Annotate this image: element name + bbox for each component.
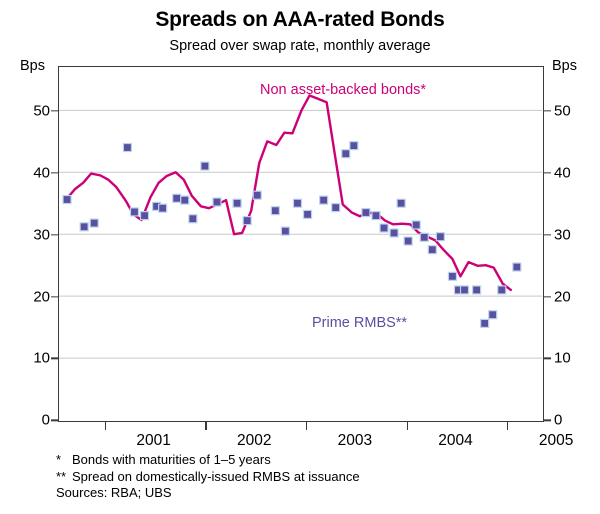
x-axis-tick-mark <box>105 422 106 430</box>
y-axis-tick-mark-right <box>544 420 551 421</box>
chart-container: Spreads on AAA-rated Bonds Spread over s… <box>0 0 600 514</box>
footnote-text-1: Bonds with maturities of 1–5 years <box>72 452 271 469</box>
y-axis-tick-label-left: 50 <box>10 102 50 119</box>
y-axis-tick-mark-right <box>544 234 551 235</box>
footnote-marker-2: ** <box>56 469 72 486</box>
x-axis-tick-mark <box>306 422 307 430</box>
y-axis-tick-label-left: 40 <box>10 164 50 181</box>
scatter-point <box>429 246 436 253</box>
scatter-point <box>449 273 456 280</box>
scatter-point <box>513 264 520 271</box>
y-axis-tick-mark-left <box>51 234 58 235</box>
scatter-point <box>159 205 166 212</box>
scatter-point <box>173 195 180 202</box>
scatter-point <box>202 163 209 170</box>
x-axis-tick-label: 2004 <box>421 432 491 450</box>
scatter-point <box>131 209 138 216</box>
y-axis-tick-label-right: 30 <box>554 226 594 243</box>
scatter-point <box>405 238 412 245</box>
series-label-non-asset-backed-bonds: Non asset-backed bonds* <box>260 82 426 98</box>
y-axis-tick-mark-left <box>51 296 58 297</box>
scatter-point <box>181 197 188 204</box>
scatter-point <box>124 144 131 151</box>
line-series-non-asset-backed-bonds <box>66 95 511 289</box>
y-axis-tick-label-right: 40 <box>554 164 594 181</box>
footnote-row-2: ** Spread on domestically-issued RMBS at… <box>56 469 576 486</box>
scatter-point <box>81 223 88 230</box>
scatter-point <box>294 200 301 207</box>
plot-area <box>58 66 544 422</box>
scatter-point <box>421 234 428 241</box>
scatter-point <box>320 197 327 204</box>
scatter-point <box>141 212 148 219</box>
scatter-point <box>498 287 505 294</box>
y-axis-tick-label-left: 10 <box>10 350 50 367</box>
scatter-point <box>342 150 349 157</box>
scatter-point <box>391 230 398 237</box>
chart-canvas <box>59 67 542 420</box>
scatter-point <box>350 142 357 149</box>
scatter-point <box>234 200 241 207</box>
scatter-point <box>398 200 405 207</box>
y-axis-tick-label-right: 20 <box>554 288 594 305</box>
scatter-point <box>189 215 196 222</box>
scatter-point <box>64 196 71 203</box>
y-axis-tick-mark-right <box>544 172 551 173</box>
scatter-point <box>332 204 339 211</box>
x-axis-tick-label: 2001 <box>119 432 189 450</box>
y-axis-unit-right: Bps <box>552 58 577 74</box>
x-axis-tick-mark <box>205 422 206 430</box>
chart-subtitle: Spread over swap rate, monthly average <box>0 38 600 54</box>
scatter-point <box>91 220 98 227</box>
x-axis-tick-mark <box>507 422 508 430</box>
y-axis-tick-mark-left <box>51 110 58 111</box>
y-axis-tick-label-right: 0 <box>554 412 594 429</box>
x-axis-tick-label: 2002 <box>219 432 289 450</box>
y-axis-tick-label-left: 20 <box>10 288 50 305</box>
scatter-point <box>363 209 370 216</box>
y-axis-tick-mark-right <box>544 296 551 297</box>
page-title: Spreads on AAA-rated Bonds <box>0 8 600 32</box>
scatter-point <box>481 320 488 327</box>
x-axis-tick-mark <box>407 422 408 430</box>
y-axis-tick-label-left: 30 <box>10 226 50 243</box>
y-axis-tick-mark-left <box>51 358 58 359</box>
y-axis-tick-mark-left <box>51 420 58 421</box>
y-axis-tick-mark-right <box>544 358 551 359</box>
footnote-marker-1: * <box>56 452 72 469</box>
y-axis-unit-left: Bps <box>20 58 45 74</box>
scatter-point <box>254 192 261 199</box>
scatter-point <box>437 233 444 240</box>
scatter-point <box>244 217 251 224</box>
footnote-text-2: Spread on domestically-issued RMBS at is… <box>72 469 360 486</box>
scatter-point <box>461 287 468 294</box>
scatter-point <box>373 212 380 219</box>
scatter-point <box>413 222 420 229</box>
series-label-prime-rmbs: Prime RMBS** <box>312 315 407 331</box>
footnotes: * Bonds with maturities of 1–5 years ** … <box>56 452 576 502</box>
sources-text: Sources: RBA; UBS <box>56 485 576 502</box>
footnote-row-1: * Bonds with maturities of 1–5 years <box>56 452 576 469</box>
scatter-point <box>473 287 480 294</box>
y-axis-tick-mark-right <box>544 110 551 111</box>
y-axis-tick-label-right: 10 <box>554 350 594 367</box>
scatter-point <box>489 311 496 318</box>
y-axis-tick-label-left: 0 <box>10 412 50 429</box>
scatter-point <box>304 211 311 218</box>
scatter-point <box>214 199 221 206</box>
scatter-point <box>272 207 279 214</box>
y-axis-tick-label-right: 50 <box>554 102 594 119</box>
y-axis-tick-mark-left <box>51 172 58 173</box>
scatter-point <box>282 228 289 235</box>
x-axis-tick-label: 2003 <box>320 432 390 450</box>
x-axis-tick-label: 2005 <box>521 432 591 450</box>
scatter-point <box>381 225 388 232</box>
